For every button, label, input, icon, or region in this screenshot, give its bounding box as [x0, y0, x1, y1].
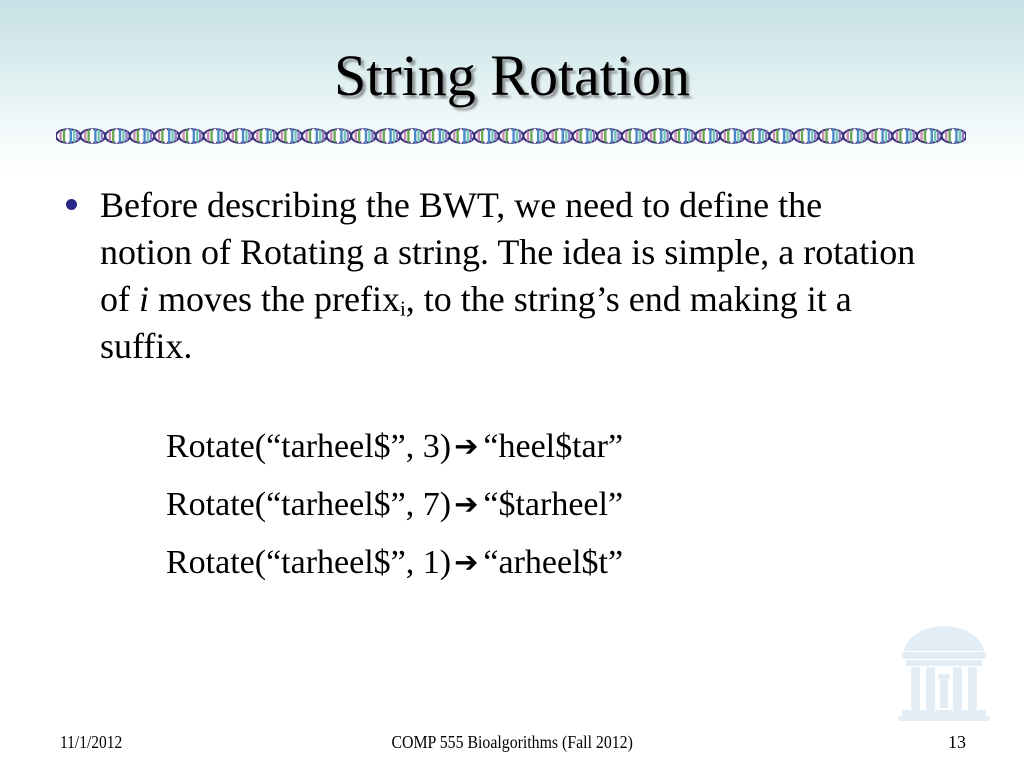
unc-old-well-logo-icon [892, 620, 996, 724]
page-title: String Rotation [0, 44, 1024, 108]
footer-course-label: COMP 555 Bioalgorithms (Fall 2012) [391, 729, 632, 755]
example-line-1: Rotate(“tarheel$”, 3)➔“heel$tar” [166, 418, 926, 476]
example-call-1: Rotate(“tarheel$”, 3) [166, 428, 451, 465]
slide-footer: 11/1/2012 COMP 555 Bioalgorithms (Fall 2… [0, 729, 1024, 757]
footer-page-number: 13 [948, 729, 966, 755]
slide-canvas: String Rotation Before describ [0, 0, 1024, 768]
bullet-paragraph: Before describing the BWT, we need to de… [100, 182, 920, 370]
bullet-text-italic-i: i [139, 279, 149, 319]
right-arrow-icon: ➔ [451, 429, 483, 463]
right-arrow-icon: ➔ [451, 487, 483, 521]
footer-course: COMP 555 Bioalgorithms (Fall 2012) [0, 729, 1024, 755]
rotation-examples: Rotate(“tarheel$”, 3)➔“heel$tar” Rotate(… [166, 418, 926, 592]
right-arrow-icon: ➔ [451, 545, 483, 579]
list-item: Before describing the BWT, we need to de… [58, 182, 938, 370]
example-result-2: “$tarheel” [483, 486, 623, 523]
example-result-1: “heel$tar” [483, 428, 623, 465]
example-line-3: Rotate(“tarheel$”, 1)➔“arheel$t” [166, 534, 926, 592]
example-call-3: Rotate(“tarheel$”, 1) [166, 544, 451, 581]
example-call-2: Rotate(“tarheel$”, 7) [166, 486, 451, 523]
bullet-text-part2: moves the prefix [149, 279, 400, 319]
dna-helix-divider [56, 124, 966, 148]
body-content: Before describing the BWT, we need to de… [58, 182, 938, 370]
example-result-3: “arheel$t” [483, 544, 623, 581]
example-line-2: Rotate(“tarheel$”, 7)➔“$tarheel” [166, 476, 926, 534]
bullet-dot-icon [66, 199, 77, 210]
